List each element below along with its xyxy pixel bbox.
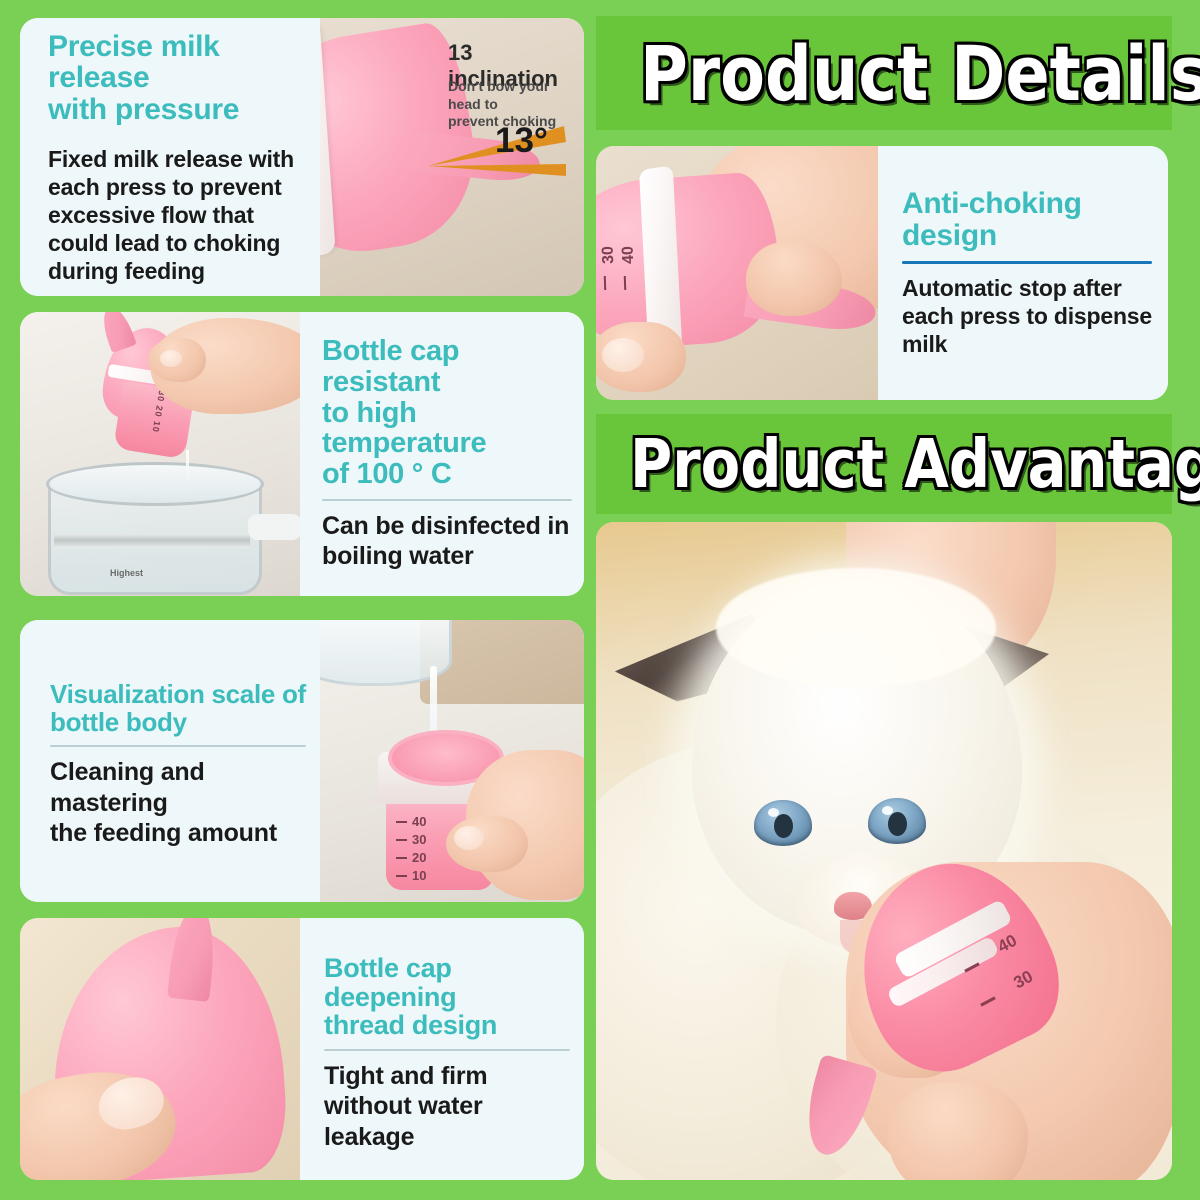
banner-product-advantages: Product Advantages: [596, 414, 1172, 514]
bottle-scale-tick: [604, 276, 606, 290]
bottle-scale-tick: [396, 857, 407, 859]
bottle-scale-number-30: 30: [600, 246, 619, 264]
pouring-water-photo: 40 30 20 10: [320, 620, 584, 902]
kettle-rim-icon: [46, 462, 264, 506]
banner-product-advantages-text: Product Advantages: [630, 425, 1200, 503]
card-visualization-body: Cleaning and mastering the feeding amoun…: [50, 757, 306, 849]
fingernail-icon: [602, 338, 644, 372]
kettle-brand-label: Highest: [110, 568, 143, 578]
card-deepening-thread-heading: Bottle cap deepening thread design: [324, 954, 570, 1040]
kitten-left-pupil: [774, 814, 793, 838]
kettle-metal-ring-icon: [54, 534, 250, 548]
bottle-scale-number-20: 20: [412, 850, 426, 865]
card-deepening-thread: Bottle cap deepening thread design Tight…: [20, 918, 584, 1180]
boiling-water-photo: 40 30 20 10 Highest: [20, 312, 300, 596]
card-deepening-thread-body: Tight and firm without water leakage: [324, 1061, 570, 1153]
card-anti-choking-body: Automatic stop after each press to dispe…: [902, 274, 1152, 358]
card-precise-image: 13 inclination Don't bow your head to pr…: [320, 18, 584, 296]
card-precise-milk-release: Precise milk release with pressure Fixed…: [20, 18, 584, 296]
kitten-photo-canvas: 40 30: [596, 522, 1172, 1180]
card-anti-choking-image: 40 30: [596, 146, 878, 400]
card-anti-choking-heading: Anti-choking design: [902, 188, 1152, 252]
finger-icon: [888, 1082, 1028, 1180]
card-visualization-heading: Visualization scale of bottle body: [50, 681, 306, 736]
card-heat-resistant-divider: [322, 499, 572, 501]
card-anti-choking-text-block: Anti-choking design Automatic stop after…: [878, 146, 1168, 400]
card-heat-resistant-body: Can be disinfected in boiling water: [322, 511, 572, 572]
bottle-scale-number-30: 30: [412, 832, 426, 847]
infographic-stage: Product Details Precise milk release wit…: [0, 0, 1200, 1200]
bottle-scale-tick: [624, 276, 626, 290]
kitten-head-fur-tuft: [716, 568, 996, 688]
banner-product-details: Product Details: [596, 16, 1172, 130]
card-visualization-text-block: Visualization scale of bottle body Clean…: [20, 620, 320, 902]
kettle-handle-icon: [248, 514, 300, 540]
water-drip-icon: [186, 450, 189, 482]
kitten-right-pupil: [888, 812, 907, 836]
card-visualization-divider: [50, 745, 306, 747]
bottle-scale-number-40: 40: [620, 246, 639, 264]
fingernail-icon: [454, 826, 484, 850]
finger-icon: [746, 242, 842, 316]
card-heat-resistant-text-block: Bottle cap resistant to high temperature…: [300, 312, 584, 596]
card-precise-body: Fixed milk release with each press to pr…: [48, 145, 306, 285]
card-visualization-image: 40 30 20 10: [320, 620, 584, 902]
card-heat-resistant-heading: Bottle cap resistant to high temperature…: [322, 336, 572, 490]
card-precise-heading: Precise milk release with pressure: [48, 31, 306, 126]
hero-kitten-photo: 40 30: [596, 522, 1172, 1180]
thumb-pressing-nozzle-photo: [20, 918, 300, 1180]
bottle-scale-tick: [396, 821, 407, 823]
card-anti-choking: 40 30 Anti-choking design Automatic stop…: [596, 146, 1168, 400]
card-anti-choking-divider: [902, 261, 1152, 264]
card-deepening-thread-divider: [324, 1049, 570, 1051]
kitten-right-eye-glint: [882, 806, 893, 815]
card-visualization-scale: 40 30 20 10 Visualization scale of bottl…: [20, 620, 584, 902]
card-deepening-thread-text-block: Bottle cap deepening thread design Tight…: [300, 918, 584, 1180]
diagram-angle-label: 13°: [495, 121, 548, 161]
hand-squeezing-bottle-photo: 40 30: [596, 146, 878, 400]
kitten-left-eye-glint: [768, 808, 779, 817]
card-heat-resistant: 40 30 20 10 Highest Bottle cap resistant…: [20, 312, 584, 596]
bottle-scale-number-40: 40: [412, 814, 426, 829]
card-heat-resistant-image: 40 30 20 10 Highest: [20, 312, 300, 596]
card-precise-text-block: Precise milk release with pressure Fixed…: [20, 18, 320, 296]
bottle-scale-tick: [396, 839, 407, 841]
bottle-inclination-photo: 13 inclination Don't bow your head to pr…: [320, 18, 584, 296]
banner-product-details-text: Product Details: [640, 29, 1200, 118]
bottle-scale-number-10: 10: [412, 868, 426, 883]
card-deepening-thread-image: [20, 918, 300, 1180]
fingernail-icon: [160, 350, 182, 367]
bottle-scale-tick: [396, 875, 407, 877]
